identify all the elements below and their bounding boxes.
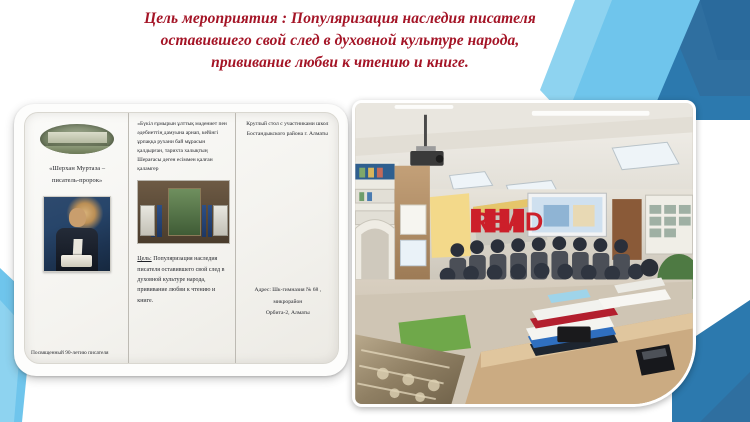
poster-left-caption: Посвященный 90-летию писателя bbox=[31, 350, 124, 357]
poster-left-heading: «Шерхан Муртаза – писатель-пророк» bbox=[32, 163, 122, 187]
title-line-3: прививание любви к чтению и книге. bbox=[30, 52, 650, 74]
svg-text:READ: READ bbox=[471, 208, 543, 236]
title-line-2: оставившего свой след в духовной культур… bbox=[30, 30, 650, 52]
exhibition-book bbox=[208, 205, 213, 237]
sherkhan-murtaza-portrait bbox=[43, 196, 111, 272]
poster-sheet: «Шерхан Муртаза – писатель-пророк» Посвя… bbox=[24, 112, 339, 364]
exhibition-leaflet bbox=[213, 205, 228, 236]
presentation-slide: Цель мероприятия : Популяризация наследи… bbox=[0, 0, 750, 422]
poster-address: Адрес: Шк-гимназия № 68 , микрорайон Орб… bbox=[244, 285, 332, 320]
book-exhibition-photo bbox=[137, 180, 229, 244]
poster-right-heading-line-2: Бостандыкского района г. Алматы bbox=[244, 130, 331, 140]
poster-left-heading-line-1: «Шерхан Муртаза – bbox=[32, 163, 122, 175]
poster-left-heading-line-2: писатель-пророк» bbox=[32, 175, 122, 187]
poster-address-line-1: Адрес: Шк-гимназия № 68 , микрорайон bbox=[244, 285, 332, 308]
title-line-1: Цель мероприятия : Популяризация наследи… bbox=[30, 8, 650, 30]
slide-title: Цель мероприятия : Популяризация наследи… bbox=[30, 8, 650, 74]
exhibition-book bbox=[157, 205, 162, 237]
portrait-face bbox=[69, 208, 86, 227]
school-building-oval-photo bbox=[40, 124, 114, 154]
round-table-event-photo: READ bbox=[352, 100, 696, 407]
poster-right-heading: Круглый стол с участниками школ Бостанды… bbox=[244, 120, 331, 139]
exhibition-book bbox=[202, 205, 207, 237]
poster-column-middle: «Бүкіл ғұмырын ұлттық мәдениет пен әдеби… bbox=[128, 113, 234, 363]
portrait-book bbox=[61, 255, 91, 267]
poster-goal-text: Цель: Популяризация наследия писателя ос… bbox=[137, 254, 227, 306]
poster-goal-body: Популяризация наследия писателя оставивш… bbox=[137, 256, 224, 303]
exhibition-center-panel bbox=[168, 188, 201, 236]
poster-card: «Шерхан Муртаза – писатель-пророк» Посвя… bbox=[14, 104, 348, 376]
poster-goal-label: Цель: bbox=[137, 256, 151, 262]
exhibition-leaflet bbox=[140, 205, 155, 236]
kazakh-paragraph: «Бүкіл ғұмырын ұлттық мәдениет пен әдеби… bbox=[137, 120, 227, 173]
poster-right-heading-line-1: Круглый стол с участниками школ bbox=[244, 120, 331, 130]
poster-address-line-2: Орбита-2, Алматы bbox=[244, 308, 332, 320]
poster-column-left: «Шерхан Муртаза – писатель-пророк» Посвя… bbox=[25, 113, 128, 363]
poster-column-right: Круглый стол с участниками школ Бостанды… bbox=[235, 113, 338, 363]
